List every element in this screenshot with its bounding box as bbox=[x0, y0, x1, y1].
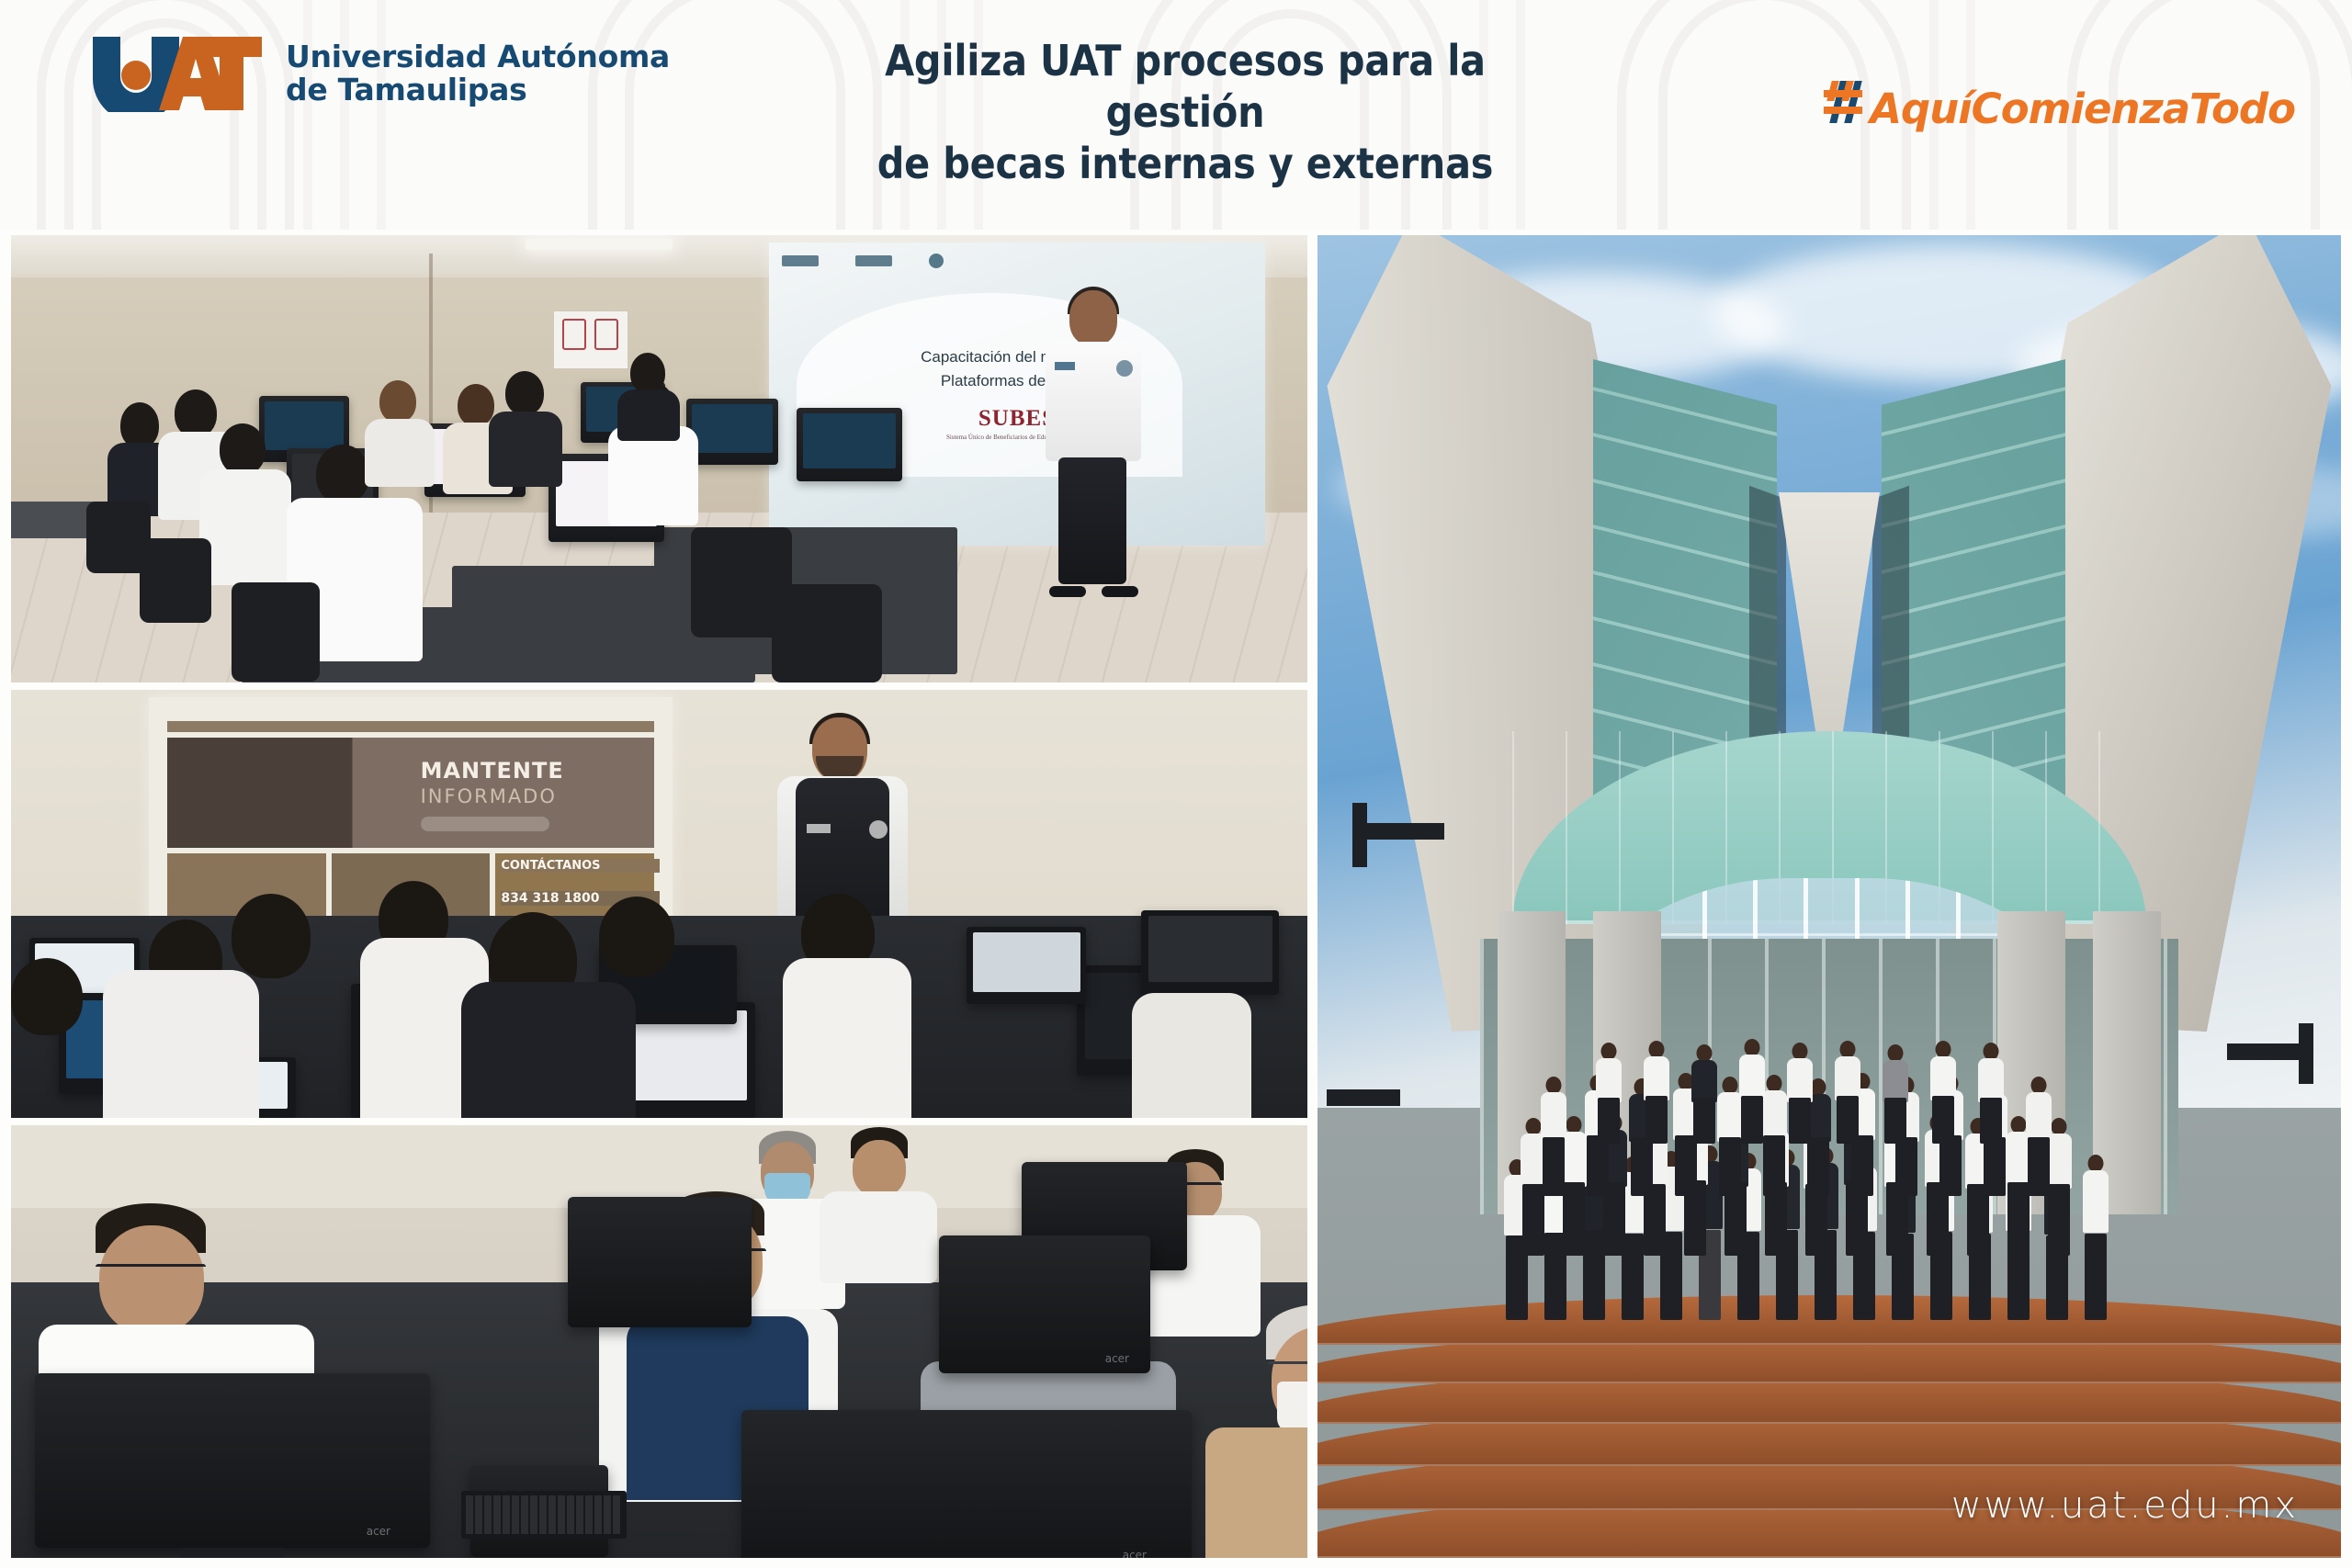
attendee bbox=[1132, 993, 1251, 1118]
page-title-line-1: Agiliza UAT procesos para la gestión bbox=[808, 35, 1562, 138]
contact-title: CONTÁCTANOS bbox=[501, 859, 660, 873]
attendee bbox=[617, 353, 682, 435]
attendee bbox=[489, 371, 564, 479]
poster-root: Universidad Autónoma de Tamaulipas Agili… bbox=[0, 0, 2352, 1568]
ceiling-light bbox=[526, 239, 673, 250]
hero-line-2: INFORMADO bbox=[421, 785, 557, 807]
hero-line-1: MANTENTE bbox=[421, 758, 564, 784]
monitor bbox=[1141, 910, 1279, 995]
chair bbox=[232, 582, 320, 682]
attendee bbox=[1205, 1304, 1307, 1558]
attendee-head bbox=[11, 958, 83, 1035]
logo-line-1: Universidad Autónoma bbox=[286, 40, 670, 73]
hero-button bbox=[421, 817, 549, 831]
uat-logo[interactable]: Universidad Autónoma de Tamaulipas bbox=[87, 35, 670, 112]
projection-title-line-2: Plataformas de Becas bbox=[769, 369, 1265, 393]
page-title-line-2: de becas internas y externas bbox=[808, 138, 1562, 189]
page-title: Agiliza UAT procesos para la gestión de … bbox=[808, 35, 1562, 189]
projection-title: Capacitación del manejo de Plataformas d… bbox=[769, 345, 1265, 392]
keyboard bbox=[461, 1491, 627, 1539]
monitor bbox=[967, 927, 1086, 1004]
monitor bbox=[568, 1197, 752, 1327]
chair bbox=[140, 538, 211, 623]
attendee-head bbox=[232, 894, 311, 978]
projection-screen: Capacitación del manejo de Plataformas d… bbox=[769, 243, 1265, 546]
monitor: acer bbox=[35, 1373, 430, 1548]
monitor bbox=[686, 399, 778, 465]
wall-lamp bbox=[1352, 803, 1367, 867]
attendee bbox=[103, 970, 259, 1118]
website-hero-banner: MANTENTE INFORMADO bbox=[167, 738, 654, 848]
staff-group bbox=[1508, 1017, 2151, 1320]
chair bbox=[772, 584, 882, 682]
monitor-brand: acer bbox=[1105, 1352, 1129, 1365]
header-bar: Universidad Autónoma de Tamaulipas Agili… bbox=[0, 0, 2352, 230]
attendee bbox=[820, 1127, 939, 1274]
hash-icon bbox=[1822, 81, 1868, 123]
wall-lamp bbox=[1327, 1089, 1400, 1106]
projection-logos bbox=[782, 254, 944, 268]
photo-collage: Capacitación del manejo de Plataformas d… bbox=[11, 235, 2341, 1558]
campaign-hashtag: AquíComienzaTodo bbox=[1822, 81, 2295, 133]
photo-building-group: www.uat.edu.mx bbox=[1317, 235, 2341, 1558]
hashtag-text: AquíComienzaTodo bbox=[1870, 85, 2295, 133]
attendee bbox=[461, 982, 636, 1118]
monitor-brand: acer bbox=[1123, 1549, 1147, 1559]
uat-logo-mark bbox=[87, 35, 262, 112]
photo-attendees: acer acer acer bbox=[11, 1125, 1307, 1558]
logo-line-2: de Tamaulipas bbox=[286, 73, 670, 107]
wall-lamp bbox=[1362, 823, 1444, 840]
attendee-head bbox=[599, 897, 674, 977]
monitor: acer bbox=[939, 1235, 1150, 1373]
attendee bbox=[365, 380, 436, 481]
attendee bbox=[199, 423, 291, 580]
photo-classroom-web: MANTENTE INFORMADO CONTÁCTANOS 834 318 1… bbox=[11, 690, 1307, 1118]
projection-title-line-1: Capacitación del manejo de bbox=[769, 345, 1265, 369]
monitor: acer bbox=[741, 1410, 1192, 1558]
photo-training-room: Capacitación del manejo de Plataformas d… bbox=[11, 235, 1307, 682]
wall-lamp bbox=[2227, 1043, 2304, 1060]
website-watermark: www.uat.edu.mx bbox=[1951, 1484, 2299, 1527]
uat-logo-wordmark: Universidad Autónoma de Tamaulipas bbox=[286, 40, 670, 106]
presenter-person bbox=[1040, 290, 1146, 593]
website-navbar bbox=[167, 721, 654, 732]
attendee bbox=[783, 958, 911, 1118]
monitor-brand: acer bbox=[367, 1525, 390, 1538]
monitor bbox=[797, 408, 902, 481]
wall-lamp bbox=[2299, 1023, 2313, 1084]
